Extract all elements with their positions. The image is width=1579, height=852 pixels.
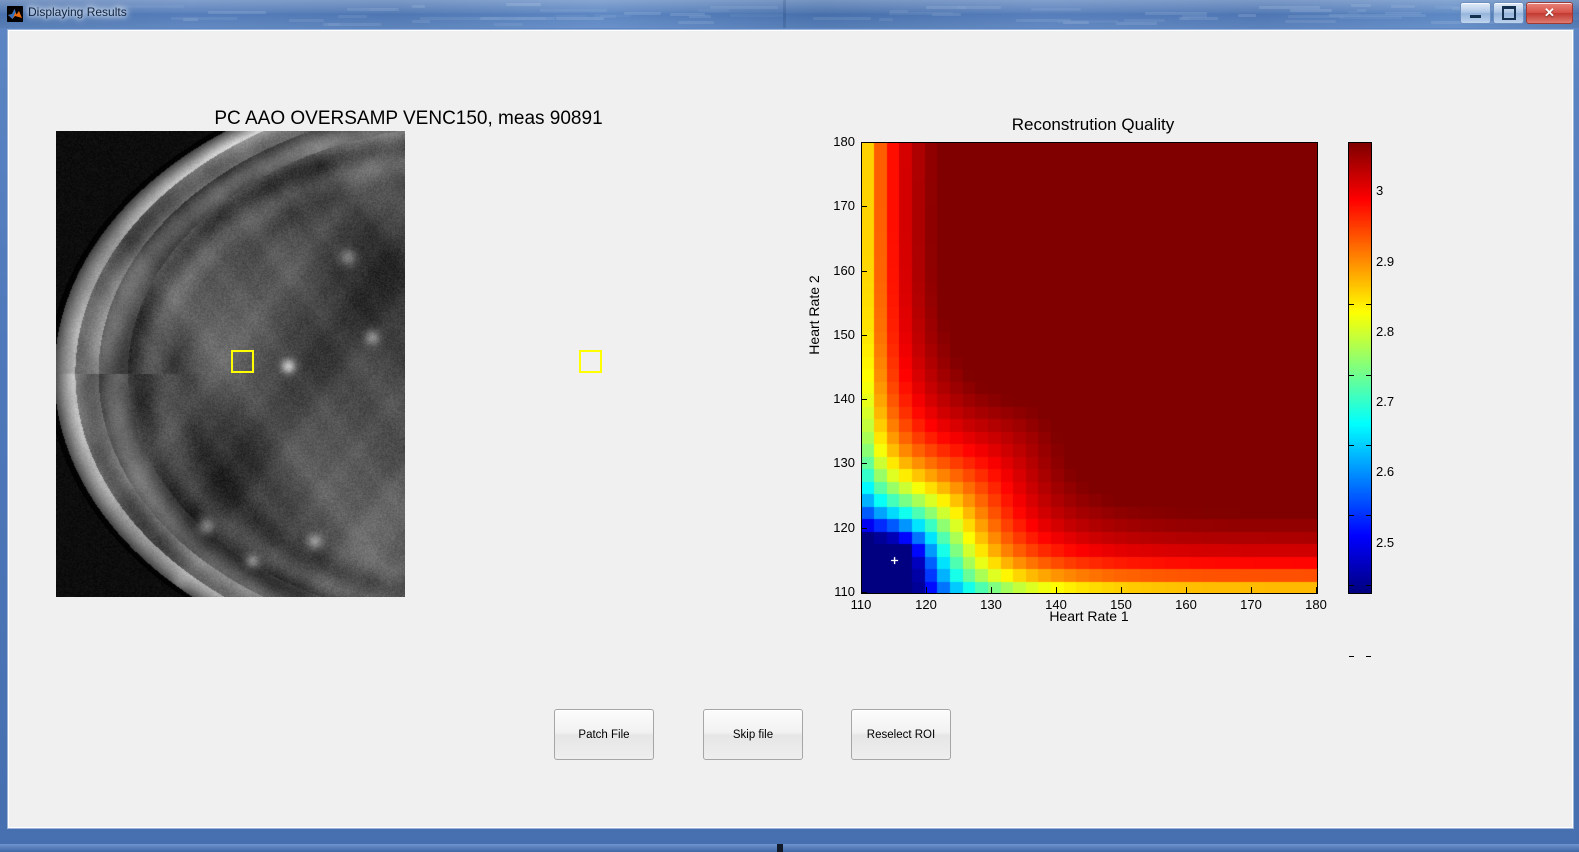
x-tick-label: 170: [1231, 597, 1271, 612]
y-tick-label: 160: [833, 263, 855, 278]
y-axis-title: Heart Rate 2: [806, 275, 822, 354]
skip-file-button[interactable]: Skip file: [703, 709, 803, 760]
x-tick-mark: [1186, 587, 1187, 593]
x-tick-label: 150: [1101, 597, 1141, 612]
x-tick-mark: [1251, 587, 1252, 593]
desktop-ghost-behind-glass: [0, 0, 1579, 28]
minimize-button[interactable]: [1460, 2, 1491, 24]
colorbar-canvas: [1349, 143, 1371, 593]
taskbar-notch: [777, 844, 783, 852]
minimize-icon: [1470, 15, 1481, 18]
heatmap-axes[interactable]: +: [861, 142, 1318, 594]
colorbar-tick-label: 3: [1376, 183, 1383, 198]
colorbar-tick-mark: [1349, 304, 1354, 305]
x-tick-label: 120: [906, 597, 946, 612]
x-tick-mark: [991, 587, 992, 593]
y-tick-mark: [861, 399, 867, 400]
roi-box-magnitude[interactable]: [231, 350, 254, 373]
close-button[interactable]: ✕: [1526, 2, 1573, 24]
colorbar-tick-mark: [1366, 515, 1371, 516]
window-title: Displaying Results: [28, 5, 127, 19]
x-tick-label: 180: [1296, 597, 1336, 612]
colorbar-tick-mark: [1366, 445, 1371, 446]
x-tick-label: 130: [971, 597, 1011, 612]
y-tick-mark: [861, 206, 867, 207]
y-tick-label: 150: [833, 327, 855, 342]
y-tick-label: 180: [833, 134, 855, 149]
colorbar-tick-mark: [1349, 515, 1354, 516]
colorbar-tick-label: 2.5: [1376, 535, 1394, 550]
y-tick-label: 120: [833, 520, 855, 535]
mri-image-panel: [56, 131, 754, 597]
colorbar-tick-mark: [1349, 585, 1354, 586]
y-tick-label: 130: [833, 455, 855, 470]
colorbar-tick-mark: [1349, 375, 1354, 376]
colorbar-tick-label: 2.9: [1376, 254, 1394, 269]
reselect-roi-button[interactable]: Reselect ROI: [851, 709, 951, 760]
matlab-icon: [7, 6, 23, 22]
heatmap-title: Reconstrution Quality: [798, 115, 1388, 135]
minimum-marker: +: [891, 553, 899, 567]
heatmap-canvas[interactable]: [862, 143, 1317, 593]
skip-file-button-label: Skip file: [733, 729, 773, 741]
y-tick-label: 170: [833, 198, 855, 213]
colorbar[interactable]: [1348, 142, 1372, 594]
window-controls: ✕: [1460, 2, 1573, 24]
reselect-roi-button-label: Reselect ROI: [867, 729, 935, 741]
colorbar-tick-label: 2.6: [1376, 464, 1394, 479]
patch-file-button-label: Patch File: [578, 729, 629, 741]
y-tick-mark: [861, 335, 867, 336]
colorbar-tick-mark: [1349, 445, 1354, 446]
title-bar[interactable]: Displaying Results ✕: [0, 0, 1579, 28]
colorbar-tick-label: 2.8: [1376, 324, 1394, 339]
patch-file-button[interactable]: Patch File: [554, 709, 654, 760]
x-tick-mark: [861, 587, 862, 593]
y-tick-mark: [861, 142, 867, 143]
x-tick-label: 140: [1036, 597, 1076, 612]
window-bottom-frame: [0, 844, 1579, 852]
application-window: Displaying Results ✕ PC AAO OVERSAMP VEN…: [0, 0, 1579, 852]
figure-client-area: PC AAO OVERSAMP VENC150, meas 90891 Reco…: [7, 29, 1574, 829]
x-tick-mark: [1056, 587, 1057, 593]
x-tick-mark: [926, 587, 927, 593]
x-tick-label: 110: [841, 597, 881, 612]
colorbar-tick-mark: [1366, 656, 1371, 657]
colorbar-tick-mark: [1349, 656, 1354, 657]
x-tick-label: 160: [1166, 597, 1206, 612]
colorbar-tick-mark: [1366, 375, 1371, 376]
colorbar-tick-mark: [1366, 304, 1371, 305]
x-tick-mark: [1121, 587, 1122, 593]
y-tick-mark: [861, 271, 867, 272]
y-tick-label: 140: [833, 391, 855, 406]
x-tick-mark: [1316, 587, 1317, 593]
roi-box-phase[interactable]: [579, 350, 602, 373]
image-panel-title: PC AAO OVERSAMP VENC150, meas 90891: [56, 108, 761, 130]
colorbar-tick-mark: [1366, 585, 1371, 586]
colorbar-tick-label: 2.7: [1376, 394, 1394, 409]
y-tick-mark: [861, 528, 867, 529]
maximize-button[interactable]: [1493, 2, 1524, 24]
y-tick-mark: [861, 463, 867, 464]
maximize-icon: [1502, 6, 1516, 20]
